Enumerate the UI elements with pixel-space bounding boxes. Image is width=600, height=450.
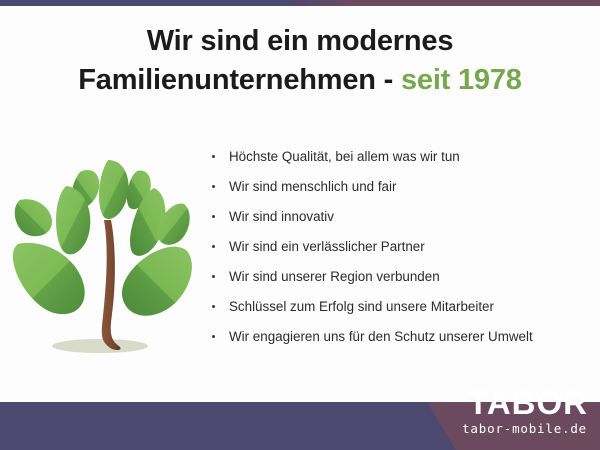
list-item: Wir sind innovativ: [208, 202, 598, 232]
list-item: Wir sind ein verlässlicher Partner: [208, 232, 598, 262]
list-item: Höchste Qualität, bei allem was wir tun: [208, 142, 598, 172]
list-item-label: Wir sind unserer Region verbunden: [229, 269, 440, 284]
title-line-2: Familienunternehmen - seit 1978: [0, 61, 600, 100]
tree-trunk: [102, 220, 121, 350]
tree-shadow: [52, 339, 148, 353]
tabor-logo-wordmark: TABOR: [468, 386, 588, 419]
title-line-2-main: Familienunternehmen -: [78, 64, 401, 96]
list-item-label: Wir engagieren uns für den Schutz unsere…: [229, 329, 533, 344]
title-line-1: Wir sind ein modernes: [0, 22, 600, 61]
bullet-dot-icon: [212, 155, 215, 158]
list-item-label: Wir sind innovativ: [229, 209, 334, 224]
top-accent-bar: [0, 0, 600, 6]
list-item-label: Wir sind ein verlässlicher Partner: [229, 239, 425, 254]
list-item: Wir sind menschlich und fair: [208, 172, 598, 202]
list-item: Wir engagieren uns für den Schutz unsere…: [208, 322, 598, 352]
list-item-label: Wir sind menschlich und fair: [229, 179, 396, 194]
list-item-label: Schlüssel zum Erfolg sind unsere Mitarbe…: [229, 299, 494, 314]
page-title: Wir sind ein modernes Familienunternehme…: [0, 22, 600, 100]
bullet-dot-icon: [212, 185, 215, 188]
tabor-logo-tagline: tabor-mobile.de: [462, 423, 587, 436]
value-list: Höchste Qualität, bei allem was wir tun …: [208, 142, 598, 352]
bullet-dot-icon: [212, 215, 215, 218]
tree-icon: [8, 138, 193, 368]
list-item: Schlüssel zum Erfolg sind unsere Mitarbe…: [208, 292, 598, 322]
bullet-dot-icon: [212, 305, 215, 308]
footer-logo-group: TABOR tabor-mobile.de: [420, 378, 600, 450]
slide-canvas: Wir sind ein modernes Familienunternehme…: [0, 0, 600, 450]
bullet-dot-icon: [212, 335, 215, 338]
bullet-dot-icon: [212, 275, 215, 278]
tree-leaves: [13, 160, 192, 316]
list-item: Wir sind unserer Region verbunden: [208, 262, 598, 292]
bullet-dot-icon: [212, 245, 215, 248]
list-item-label: Höchste Qualität, bei allem was wir tun: [229, 149, 460, 164]
title-accent-year: seit 1978: [401, 64, 522, 96]
